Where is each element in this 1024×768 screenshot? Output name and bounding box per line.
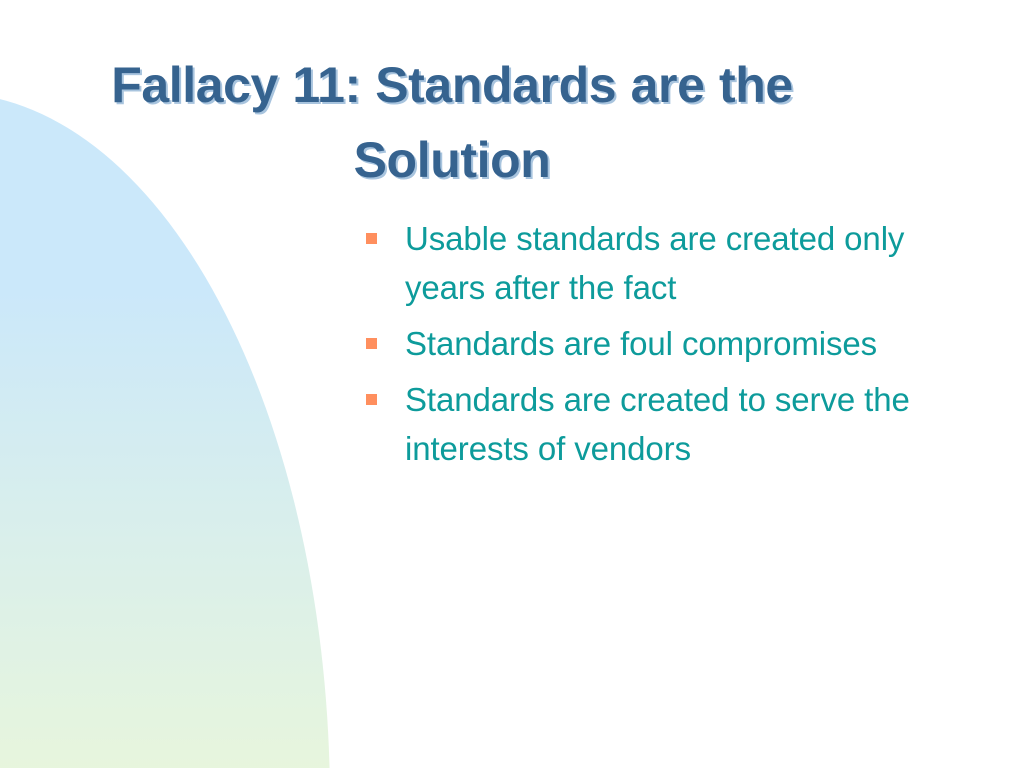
list-item: Usable standards are created only years … <box>364 214 984 312</box>
list-item: Standards are foul compromises <box>364 319 984 368</box>
slide-canvas: Fallacy 11: Standards are the Solution U… <box>0 0 1024 768</box>
square-bullet-icon <box>366 338 377 349</box>
square-bullet-icon <box>366 233 377 244</box>
list-item-label: Standards are created to serve the inter… <box>405 375 984 473</box>
list-item-label: Standards are foul compromises <box>405 319 984 368</box>
slide-title-block: Fallacy 11: Standards are the Solution <box>52 48 852 198</box>
list-item: Standards are created to serve the inter… <box>364 375 984 473</box>
list-item-label: Usable standards are created only years … <box>405 214 984 312</box>
bullet-list: Usable standards are created only years … <box>364 214 984 480</box>
page-title: Fallacy 11: Standards are the Solution <box>52 48 852 198</box>
square-bullet-icon <box>366 394 377 405</box>
